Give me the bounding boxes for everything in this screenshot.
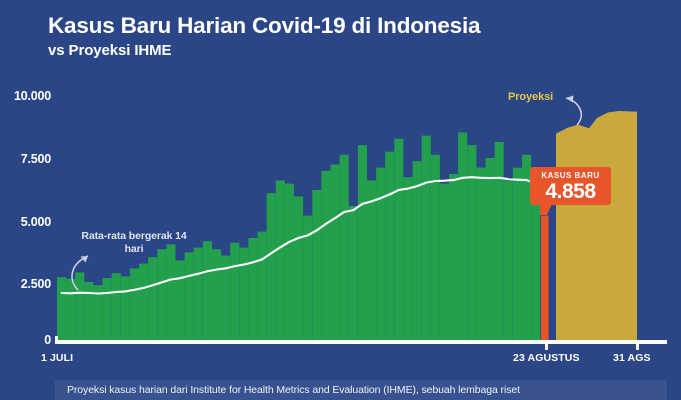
projection-band (556, 111, 637, 341)
annotation-projection: Proyeksi (508, 91, 553, 103)
footer-note: Proyeksi kasus harian dari Institute for… (55, 380, 667, 400)
infographic-root: Kasus Baru Harian Covid-19 di Indonesia … (0, 0, 681, 400)
y-tick-10000: 10.000 (0, 89, 51, 103)
y-tick-2500: 2.500 (0, 277, 51, 291)
annotation-moving-average: Rata-rata bergerak 14 hari (74, 230, 194, 255)
y-tick-5000: 5.000 (0, 215, 51, 229)
projection-arrow (566, 96, 581, 126)
highlight-bar (541, 216, 549, 341)
x-tick-end: 31 AGS (613, 352, 651, 364)
x-tick-start: 1 JULI (41, 352, 73, 364)
status-badge: KASUS BARU 4.858 (530, 167, 611, 205)
y-axis-labels: 10.000 7.500 5.000 2.500 0 (0, 0, 51, 400)
y-tick-7500: 7.500 (0, 152, 51, 166)
footer-band: Proyeksi kasus harian dari Institute for… (55, 380, 667, 400)
x-tick-highlight: 23 AGUSTUS (513, 352, 580, 364)
y-tick-0: 0 (0, 333, 51, 347)
badge-value: 4.858 (530, 180, 611, 203)
callout-pointer (540, 204, 552, 215)
badge-label: KASUS BARU (530, 167, 611, 181)
